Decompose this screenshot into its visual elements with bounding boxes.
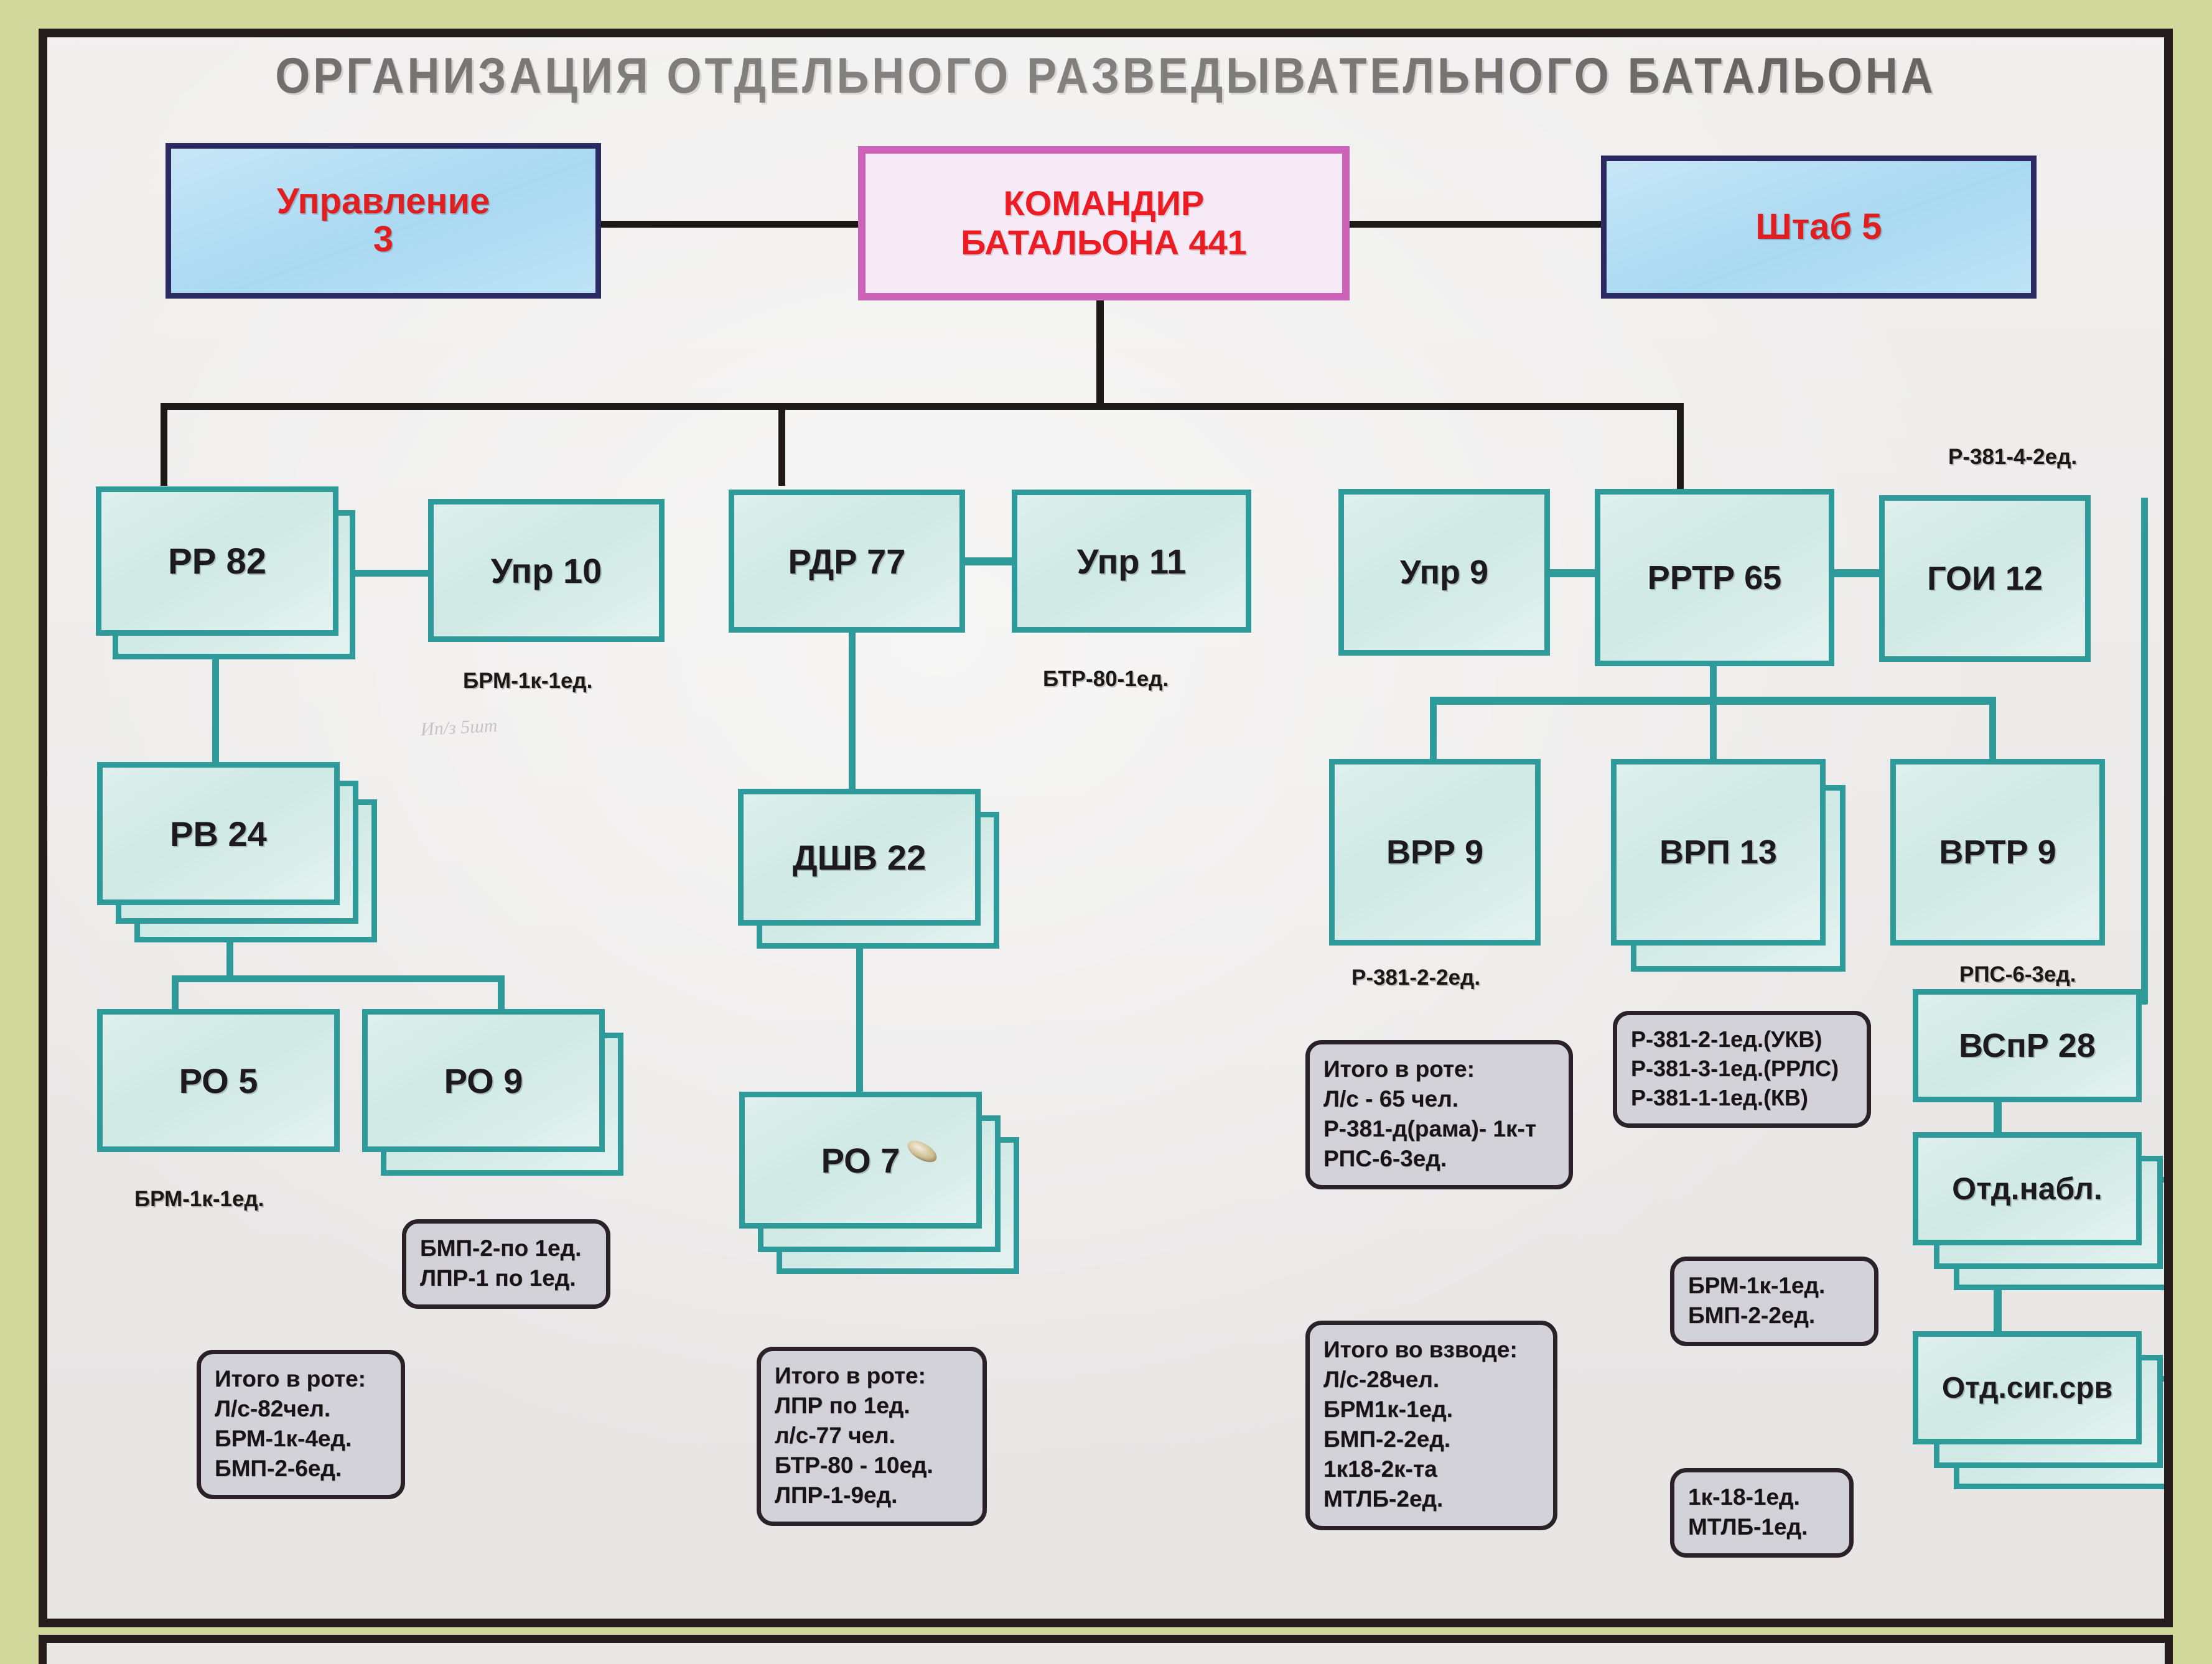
vrtr9-label: ВРТР 9 [1939, 833, 2056, 872]
pencil-scribble: Ип/з 5шт [420, 715, 498, 740]
connector-commander-down [1096, 299, 1104, 407]
note-rrtr65-total: Итого в роте: Л/с - 65 чел. Р-381-д(рама… [1305, 1040, 1573, 1189]
connector-upr9-rrtr65 [1546, 569, 1599, 577]
box-rdr77[interactable]: РДР 77 [729, 490, 965, 633]
box-upravlenie[interactable]: Управление 3 [166, 143, 601, 299]
connector-drop-vrr9 [1430, 697, 1437, 764]
connector-rrtr65-down [1710, 663, 1717, 700]
connector-ro-bus [172, 975, 505, 982]
vrr9-label: ВРР 9 [1386, 833, 1483, 872]
box-shtab[interactable]: Штаб 5 [1601, 156, 2037, 299]
commander-line2: БАТАЛЬОНА 441 [961, 223, 1247, 263]
connector-dshv22-down [856, 947, 863, 1093]
rr82-label: РР 82 [168, 541, 266, 582]
shtab-label: Штаб 5 [1755, 208, 1882, 246]
box-commander[interactable]: КОМАНДИР БАТАЛЬОНА 441 [858, 146, 1350, 300]
connector-otdnabl-down [1994, 1288, 2002, 1332]
caption-goi12: Р-381-4-2ед. [1948, 445, 2077, 470]
connector-drop-ro5 [172, 975, 179, 1013]
poster-board-lower-edge [39, 1635, 2173, 1664]
note-vspr28-equipment2: 1к-18-1ед. МТЛБ-1ед. [1670, 1468, 1854, 1558]
note-rdr77-total: Итого в роте: ЛПР по 1ед. л/с-77 чел. БТ… [757, 1347, 987, 1526]
upr10-label: Упр 10 [491, 551, 602, 591]
connector-top-horizontal-left [599, 221, 861, 228]
connector-rdr77-upr11 [962, 557, 1015, 565]
otd-nabl-label: Отд.набл. [1952, 1171, 2102, 1207]
poster-board: ОРГАНИЗАЦИЯ ОТДЕЛЬНОГО РАЗВЕДЫВАТЕЛЬНОГО… [39, 29, 2173, 1627]
connector-rv24-down [226, 942, 233, 980]
box-ro5[interactable]: РО 5 [97, 1009, 340, 1152]
box-ro9[interactable]: РО 9 [362, 1009, 605, 1152]
note-vspr28-equipment: БРМ-1к-1ед. БМП-2-2ед. [1670, 1257, 1878, 1346]
box-otd-nabl[interactable]: Отд.набл. [1913, 1132, 2142, 1245]
vrp13-label: ВРП 13 [1659, 833, 1777, 872]
connector-drop-rdr77 [778, 403, 785, 486]
box-upr10[interactable]: Упр 10 [428, 499, 665, 642]
box-otd-sig-srv[interactable]: Отд.сиг.срв [1913, 1331, 2142, 1444]
upravlenie-count: 3 [373, 221, 393, 259]
rrtr65-label: РРТР 65 [1648, 559, 1781, 597]
goi12-label: ГОИ 12 [1927, 559, 2043, 598]
ro7-label: РО 7 [821, 1140, 900, 1181]
rv24-label: РВ 24 [170, 814, 267, 854]
upravlenie-label: Управление [277, 183, 490, 221]
connector-drop-vrp13 [1710, 697, 1717, 764]
connector-rrtr65-goi12 [1831, 569, 1883, 577]
page-title: ОРГАНИЗАЦИЯ ОТДЕЛЬНОГО РАЗВЕДЫВАТЕЛЬНОГО… [47, 47, 2164, 105]
note-rr82-total: Итого в роте: Л/с-82чел. БРМ-1к-4ед. БМП… [197, 1350, 405, 1499]
box-ro7[interactable]: РО 7 [739, 1092, 982, 1229]
caption-upr10: БРМ-1к-1ед. [463, 669, 592, 694]
note-rrtr65-radios: Р-381-2-1ед.(УКВ) Р-381-3-1ед.(РРЛС) Р-3… [1613, 1011, 1871, 1128]
dshv22-label: ДШВ 22 [793, 837, 926, 878]
connector-rr82-down [212, 659, 219, 762]
connector-vspr28-down [1994, 1097, 2002, 1134]
caption-vrtr9: РПС-6-3ед. [1959, 962, 2076, 987]
box-vspr28[interactable]: ВСпР 28 [1913, 989, 2142, 1102]
caption-vrr9: Р-381-2-2ед. [1351, 965, 1480, 990]
connector-top-horizontal-right [1340, 221, 1603, 228]
box-dshv22[interactable]: ДШВ 22 [738, 789, 981, 926]
box-vrp13[interactable]: ВРП 13 [1611, 759, 1826, 946]
commander-line1: КОМАНДИР [1004, 184, 1205, 223]
box-rrtr65[interactable]: РРТР 65 [1595, 489, 1834, 666]
note-platoon-total: Итого во взводе: Л/с-28чел. БРМ1к-1ед. Б… [1305, 1321, 1557, 1530]
connector-main-bus [161, 403, 1683, 410]
upr9-label: Упр 9 [1400, 553, 1488, 592]
box-vrtr9[interactable]: ВРТР 9 [1890, 759, 2105, 946]
caption-upr11: БТР-80-1ед. [1043, 667, 1169, 692]
box-upr9[interactable]: Упр 9 [1338, 489, 1550, 656]
poster-inner: ОРГАНИЗАЦИЯ ОТДЕЛЬНОГО РАЗВЕДЫВАТЕЛЬНОГО… [47, 37, 2164, 1619]
ro9-label: РО 9 [444, 1061, 523, 1101]
upr11-label: Упр 11 [1077, 541, 1187, 582]
connector-drop-rr82 [161, 403, 167, 486]
box-goi12[interactable]: ГОИ 12 [1879, 495, 2091, 662]
otd-sig-srv-label: Отд.сиг.срв [1942, 1371, 2112, 1405]
connector-drop-vrtr9 [1989, 697, 1996, 764]
box-rv24[interactable]: РВ 24 [97, 762, 340, 905]
caption-ro5: БРМ-1к-1ед. [134, 1187, 264, 1212]
note-ro9-equipment: БМП-2-по 1ед. ЛПР-1 по 1ед. [402, 1219, 610, 1309]
vspr28-label: ВСпР 28 [1959, 1026, 2096, 1065]
connector-rrtr65-right-spine [2141, 498, 2148, 1004]
rdr77-label: РДР 77 [788, 541, 906, 582]
connector-rdr77-down [849, 631, 856, 792]
connector-drop-rrtr65 [1677, 403, 1684, 489]
box-rr82[interactable]: РР 82 [96, 486, 338, 636]
box-upr11[interactable]: Упр 11 [1012, 490, 1251, 633]
box-vrr9[interactable]: ВРР 9 [1329, 759, 1541, 946]
connector-drop-ro9 [498, 975, 505, 1013]
ro5-label: РО 5 [179, 1061, 258, 1101]
